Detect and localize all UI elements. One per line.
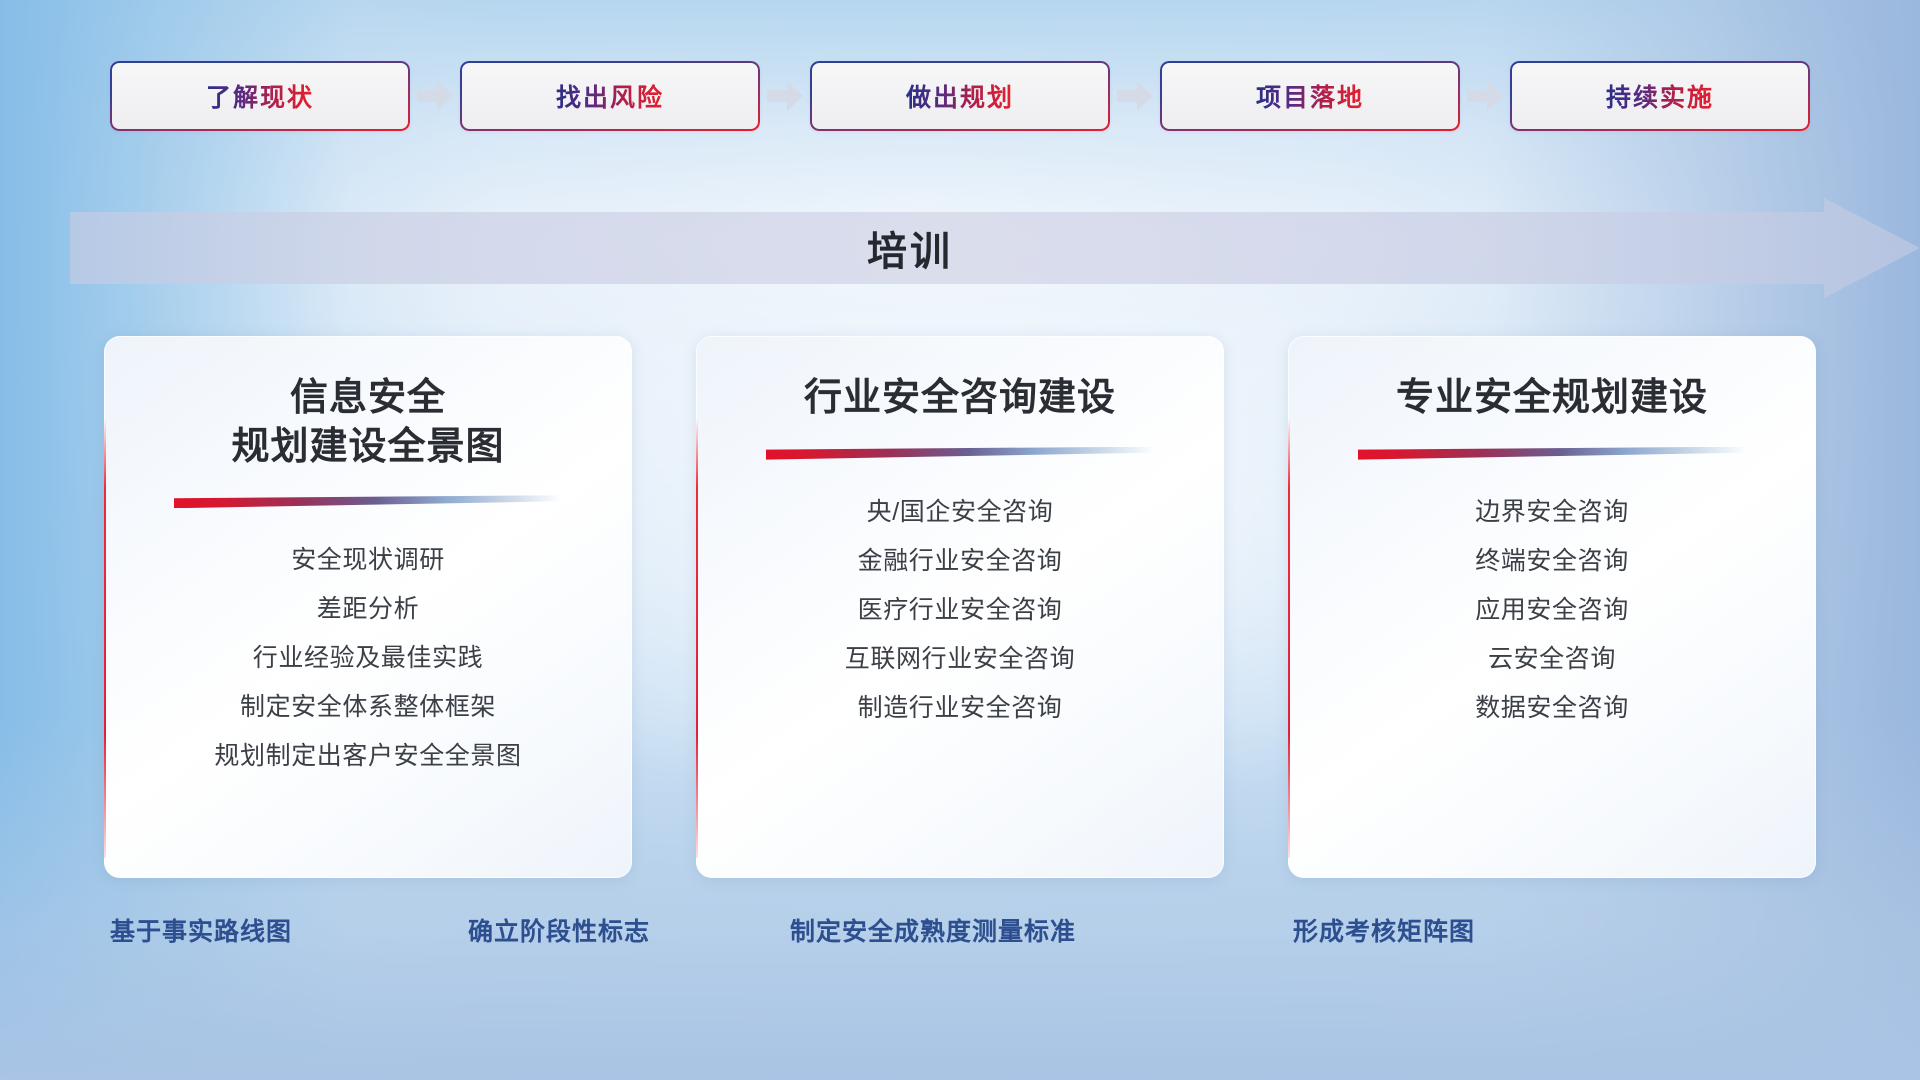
card-accent-bar [1288, 418, 1290, 858]
training-banner: 培训 [70, 198, 1920, 298]
card-title: 专业安全规划建设 [1288, 336, 1816, 423]
card-divider-gradient [174, 495, 562, 508]
list-item: 制造行业安全咨询 [720, 696, 1200, 721]
list-item: 央/国企安全咨询 [720, 500, 1200, 525]
card-title: 行业安全咨询建设 [696, 336, 1224, 423]
list-item: 数据安全咨询 [1312, 696, 1792, 721]
list-item: 应用安全咨询 [1312, 598, 1792, 623]
card-title: 信息安全 规划建设全景图 [104, 336, 632, 471]
card-item-list: 央/国企安全咨询金融行业安全咨询医疗行业安全咨询互联网行业安全咨询制造行业安全咨… [696, 460, 1224, 721]
chevron-right-icon [1110, 61, 1160, 131]
process-step-label: 做出规划 [906, 78, 1014, 114]
card-item-list: 边界安全咨询终端安全咨询应用安全咨询云安全咨询数据安全咨询 [1288, 460, 1816, 721]
outcome-label-1: 基于事实路线图 [110, 912, 292, 948]
process-step-5[interactable]: 持续实施 [1510, 61, 1810, 131]
card-divider [1358, 447, 1746, 460]
process-step-label: 找出风险 [556, 78, 664, 114]
chevron-right-icon [410, 61, 460, 131]
process-step-label: 项目落地 [1256, 78, 1364, 114]
service-card-3[interactable]: 专业安全规划建设边界安全咨询终端安全咨询应用安全咨询云安全咨询数据安全咨询 [1288, 336, 1816, 878]
chevron-right-icon [760, 61, 810, 131]
card-accent-bar [104, 418, 106, 858]
process-step-label: 了解现状 [206, 78, 314, 114]
list-item: 医疗行业安全咨询 [720, 598, 1200, 623]
process-step-1[interactable]: 了解现状 [110, 61, 410, 131]
list-item: 金融行业安全咨询 [720, 549, 1200, 574]
training-banner-title: 培训 [70, 212, 1750, 284]
card-divider-gradient [1358, 447, 1746, 460]
process-step-3[interactable]: 做出规划 [810, 61, 1110, 131]
card-divider [766, 447, 1154, 460]
outcome-label-3: 制定安全成熟度测量标准 [790, 912, 1076, 948]
process-step-4[interactable]: 项目落地 [1160, 61, 1460, 131]
list-item: 规划制定出客户安全全景图 [128, 744, 608, 769]
outcome-label-row: 基于事实路线图确立阶段性标志制定安全成熟度测量标准形成考核矩阵图 [0, 912, 1920, 966]
list-item: 安全现状调研 [128, 548, 608, 573]
list-item: 差距分析 [128, 597, 608, 622]
card-accent-bar [696, 418, 698, 858]
card-divider-gradient [766, 447, 1154, 460]
process-step-row: 了解现状找出风险做出规划项目落地持续实施 [0, 60, 1920, 132]
process-step-label: 持续实施 [1606, 78, 1714, 114]
card-divider [174, 495, 562, 508]
process-step-2[interactable]: 找出风险 [460, 61, 760, 131]
outcome-label-2: 确立阶段性标志 [468, 912, 650, 948]
list-item: 边界安全咨询 [1312, 500, 1792, 525]
service-card-row: 信息安全 规划建设全景图安全现状调研差距分析行业经验及最佳实践制定安全体系整体框… [0, 336, 1920, 878]
list-item: 互联网行业安全咨询 [720, 647, 1200, 672]
service-card-1[interactable]: 信息安全 规划建设全景图安全现状调研差距分析行业经验及最佳实践制定安全体系整体框… [104, 336, 632, 878]
list-item: 终端安全咨询 [1312, 549, 1792, 574]
outcome-label-4: 形成考核矩阵图 [1293, 912, 1475, 948]
list-item: 制定安全体系整体框架 [128, 695, 608, 720]
list-item: 行业经验及最佳实践 [128, 646, 608, 671]
card-item-list: 安全现状调研差距分析行业经验及最佳实践制定安全体系整体框架规划制定出客户安全全景… [104, 508, 632, 769]
chevron-right-icon [1460, 61, 1510, 131]
service-card-2[interactable]: 行业安全咨询建设央/国企安全咨询金融行业安全咨询医疗行业安全咨询互联网行业安全咨… [696, 336, 1224, 878]
list-item: 云安全咨询 [1312, 647, 1792, 672]
